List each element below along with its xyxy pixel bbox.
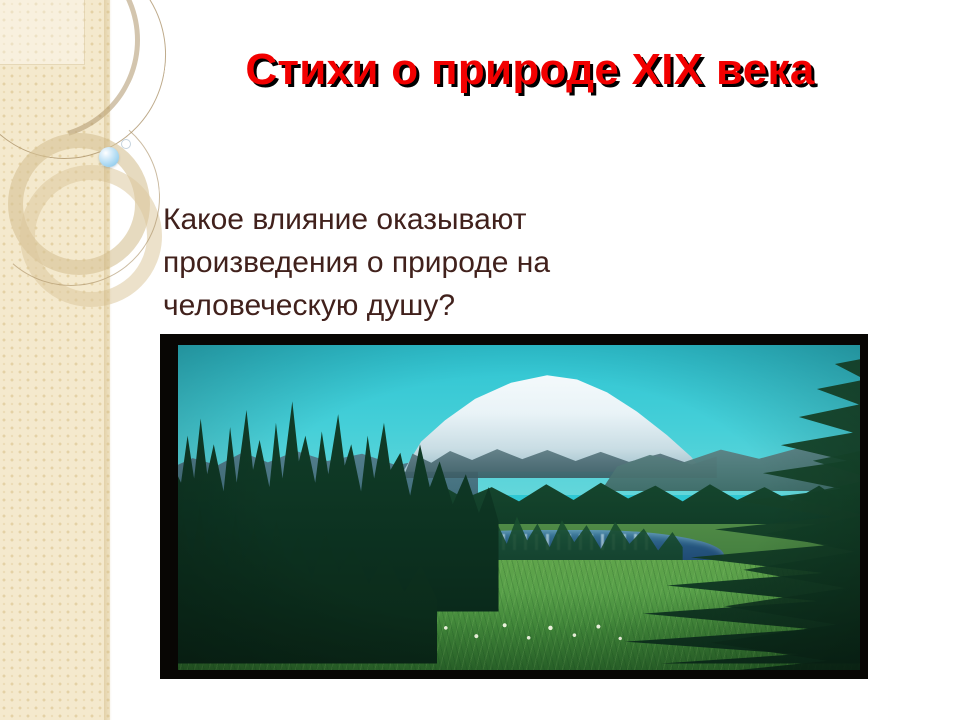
small-circle-outline-icon — [121, 139, 131, 149]
page-title: Стихи о природе XIX века — [150, 45, 910, 95]
slide-body-text: Какое влияние оказывают произведения о п… — [163, 198, 723, 327]
blue-sphere-icon — [99, 147, 119, 167]
photo-vignette — [178, 345, 860, 670]
slide-canvas: Стихи о природе XIX века Какое влияние о… — [0, 0, 960, 720]
sidebar-edge-shadow — [104, 0, 112, 720]
nature-photo — [178, 345, 860, 670]
sidebar-decoration-panel — [0, 0, 110, 720]
